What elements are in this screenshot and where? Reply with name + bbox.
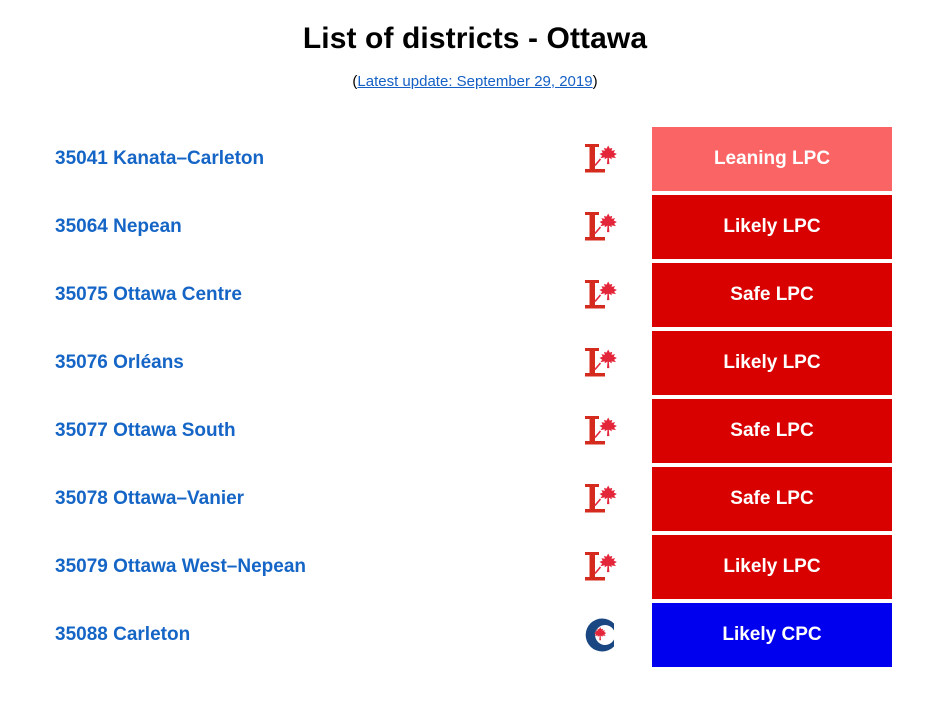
district-row: 35064 NepeanLikely LPC [0, 195, 950, 259]
rating-badge: Leaning LPC [652, 127, 892, 191]
liberal-party-logo-icon [582, 343, 618, 383]
rating-badge: Safe LPC [652, 399, 892, 463]
latest-update-link[interactable]: Latest update: September 29, 2019 [357, 73, 592, 90]
liberal-party-logo-icon [582, 547, 618, 587]
district-list: 35041 Kanata–CarletonLeaning LPC35064 Ne… [0, 127, 950, 671]
conservative-party-logo-icon [578, 603, 622, 667]
page-header: List of districts - Ottawa (Latest updat… [0, 0, 950, 91]
district-row: 35088 CarletonLikely CPC [0, 603, 950, 667]
rating-badge: Likely CPC [652, 603, 892, 667]
rating-badge: Likely LPC [652, 331, 892, 395]
liberal-party-logo-icon [582, 479, 618, 519]
liberal-party-logo-icon [582, 139, 618, 179]
district-row: 35077 Ottawa SouthSafe LPC [0, 399, 950, 463]
district-name-35076[interactable]: 35076 Orléans [55, 331, 184, 395]
liberal-party-logo-icon [578, 467, 622, 531]
rating-badge: Likely LPC [652, 195, 892, 259]
district-row: 35078 Ottawa–VanierSafe LPC [0, 467, 950, 531]
district-name-35079[interactable]: 35079 Ottawa West–Nepean [55, 535, 306, 599]
district-name-35041[interactable]: 35041 Kanata–Carleton [55, 127, 264, 191]
liberal-party-logo-icon [582, 207, 618, 247]
liberal-party-logo-icon [578, 399, 622, 463]
liberal-party-logo-icon [582, 411, 618, 451]
liberal-party-logo-icon [578, 535, 622, 599]
liberal-party-logo-icon [578, 195, 622, 259]
district-name-35088[interactable]: 35088 Carleton [55, 603, 190, 667]
liberal-party-logo-icon [578, 263, 622, 327]
district-row: 35075 Ottawa CentreSafe LPC [0, 263, 950, 327]
liberal-party-logo-icon [578, 127, 622, 191]
liberal-party-logo-icon [582, 275, 618, 315]
district-name-35064[interactable]: 35064 Nepean [55, 195, 182, 259]
rating-badge: Likely LPC [652, 535, 892, 599]
district-name-35077[interactable]: 35077 Ottawa South [55, 399, 236, 463]
district-name-35078[interactable]: 35078 Ottawa–Vanier [55, 467, 244, 531]
district-row: 35041 Kanata–CarletonLeaning LPC [0, 127, 950, 191]
conservative-party-logo-icon [580, 614, 620, 656]
district-row: 35076 OrléansLikely LPC [0, 331, 950, 395]
last-update-line: (Latest update: September 29, 2019) [0, 73, 950, 91]
rating-badge: Safe LPC [652, 263, 892, 327]
rating-badge: Safe LPC [652, 467, 892, 531]
district-list-page: List of districts - Ottawa (Latest updat… [0, 0, 950, 720]
page-title: List of districts - Ottawa [0, 22, 950, 57]
liberal-party-logo-icon [578, 331, 622, 395]
update-paren-close: ) [593, 73, 598, 90]
district-row: 35079 Ottawa West–NepeanLikely LPC [0, 535, 950, 599]
district-name-35075[interactable]: 35075 Ottawa Centre [55, 263, 242, 327]
